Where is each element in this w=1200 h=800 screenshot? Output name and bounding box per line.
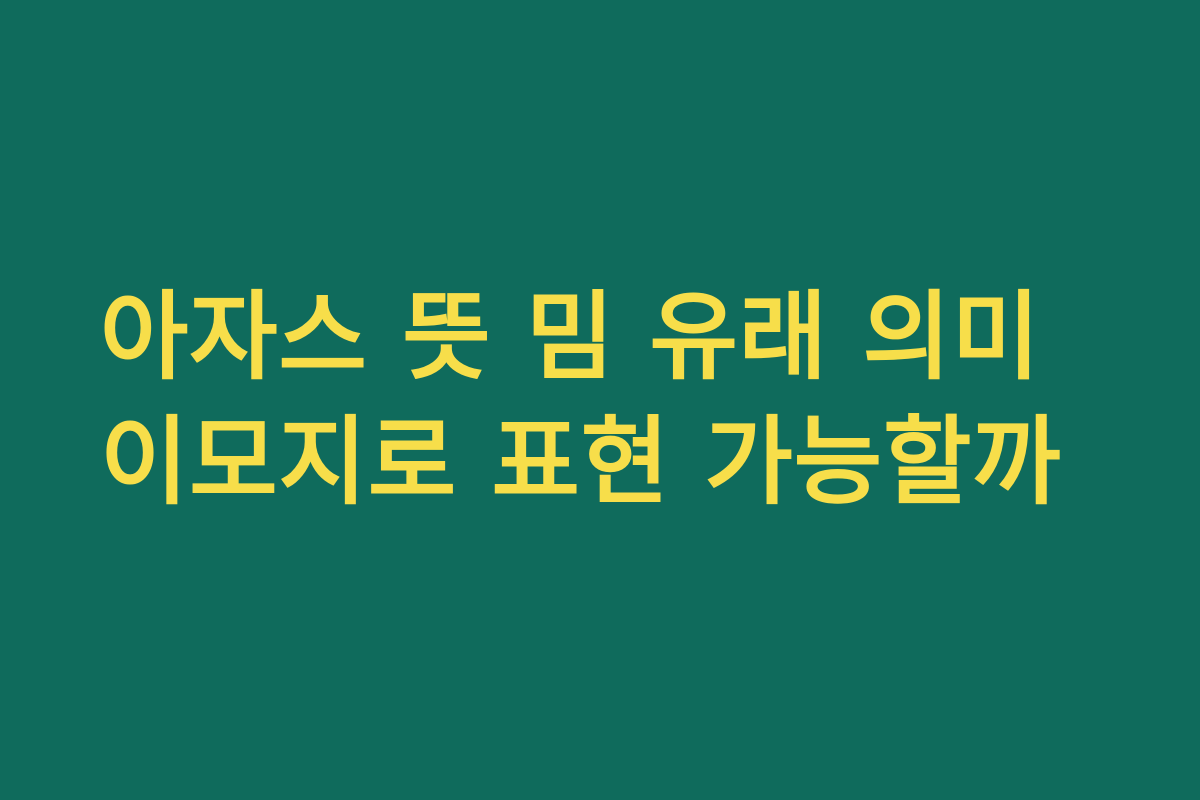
headline-block: 아자스 뜻 밈 유래 의미 이모지로 표현 가능할까 (100, 275, 1062, 525)
headline-line-2: 이모지로 표현 가능할까 (100, 400, 1062, 525)
headline-line-1: 아자스 뜻 밈 유래 의미 (100, 275, 1041, 400)
banner-canvas: 아자스 뜻 밈 유래 의미 이모지로 표현 가능할까 (0, 0, 1200, 800)
